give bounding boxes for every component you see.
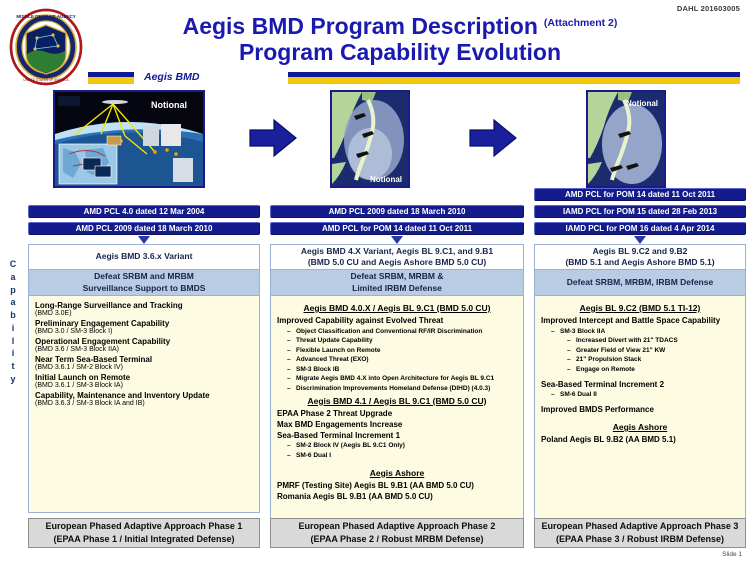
column-variant-header: Aegis BMD 3.6.x Variant [28, 244, 260, 270]
capability-title: Sea-Based Terminal Increment 2 [541, 380, 739, 389]
defeat-line: Defeat SRBM and MRBM [94, 271, 194, 283]
defeat-line: Surveillance Support to BMDS [83, 283, 206, 295]
banner-band-left [88, 72, 134, 84]
capability-letter: y [6, 373, 20, 386]
column-defeat-band: Defeat SRBM, MRBM, IRBM Defense [534, 270, 746, 296]
capability-title: EPAA Phase 2 Threat Upgrade [277, 409, 517, 418]
epaa-phase-1-footer: European Phased Adaptive Approach Phase … [28, 518, 260, 548]
variant-line: (BMD 5.1 and Aegis Ashore BMD 5.1) [565, 257, 714, 268]
epaa-phase-3-footer: European Phased Adaptive Approach Phase … [534, 518, 746, 548]
capability-letter: a [6, 296, 20, 309]
variant-line: Aegis BMD 4.X Variant, Aegis BL 9.C1, an… [301, 246, 493, 257]
capability-bullet: Object Classification and Conventional R… [287, 328, 517, 335]
capability-title: Capability, Maintenance and Inventory Up… [35, 391, 253, 400]
banner-label: Aegis BMD [144, 71, 199, 83]
mda-seal-icon: MISSILE DEFENSE AGENCY UNITED STATES OF … [8, 8, 84, 86]
variant-line: (BMD 5.0 CU and Aegis Ashore BMD 5.0 CU) [308, 257, 486, 268]
epaa-line: (EPAA Phase 3 / Robust IRBM Defense) [556, 533, 724, 546]
banner-band-right [288, 72, 740, 84]
capability-title: Preliminary Engagement Capability [35, 319, 253, 328]
capability-title: Long-Range Surveillance and Tracking [35, 301, 253, 310]
epaa-phase-2-footer: European Phased Adaptive Approach Phase … [270, 518, 524, 548]
column-body-phase3: Aegis BL 9.C2 (BMD 5.1 TI-12) Improved I… [534, 296, 746, 520]
transition-arrow-1 [248, 118, 298, 163]
column-variant-header: Aegis BL 9.C2 and 9.B2 (BMD 5.1 and Aegi… [534, 244, 746, 270]
column-defeat-band: Defeat SRBM and MRBM Surveillance Suppor… [28, 270, 260, 296]
page-title: Aegis BMD Program Description(Attachment… [100, 14, 700, 65]
pcl-bar: AMD PCL for POM 14 dated 11 Oct 2011 [270, 222, 524, 235]
capability-letter: a [6, 271, 20, 284]
pcl-bar: AMD PCL for POM 14 dated 11 Oct 2011 [534, 188, 746, 201]
title-line-1: Aegis BMD Program Description [183, 14, 538, 38]
svg-text:UNITED STATES OF AMERICA: UNITED STATES OF AMERICA [23, 78, 69, 82]
capability-title: Improved BMDS Performance [541, 405, 739, 414]
down-arrow-icon [634, 236, 646, 244]
epaa-line: (EPAA Phase 1 / Initial Integrated Defen… [53, 533, 234, 546]
epaa-line: European Phased Adaptive Approach Phase … [542, 520, 739, 533]
section-heading: Aegis BMD 4.1 / Aegis BL 9.C1 (BMD 5.0 C… [277, 396, 517, 406]
capability-subbullet: Increased Divert with 21" TDACS [567, 337, 739, 344]
section-heading: Aegis BMD 4.0.X / Aegis BL 9.C1 (BMD 5.0… [277, 303, 517, 313]
column-body-phase2: Aegis BMD 4.0.X / Aegis BL 9.C1 (BMD 5.0… [270, 296, 524, 520]
capability-letter: C [6, 258, 20, 271]
capability-title: Sea-Based Terminal Increment 1 [277, 431, 517, 440]
dahl-number: DAHL 201603005 [677, 4, 740, 13]
defeat-line: Defeat SRBM, MRBM & [350, 271, 443, 283]
transition-arrow-2 [468, 118, 518, 163]
capability-title: Improved Intercept and Battle Space Capa… [541, 316, 739, 325]
capability-letter: b [6, 309, 20, 322]
capability-detail: (BMD 3.0E) [35, 310, 253, 317]
epaa-line: European Phased Adaptive Approach Phase … [46, 520, 243, 533]
defeat-line: Limited IRBM Defense [352, 283, 442, 295]
column-body-phase1: Long-Range Surveillance and Tracking (BM… [28, 296, 260, 513]
capability-subbullet: Greater Field of View 21" KW [567, 347, 739, 354]
pcl-bar: AMD PCL 2009 dated 18 March 2010 [28, 222, 260, 235]
capability-bullet: Flexible Launch on Remote [287, 347, 517, 354]
title-line-2: Program Capability Evolution [100, 40, 700, 65]
capability-title: Poland Aegis BL 9.B2 (AA BMD 5.1) [541, 435, 739, 444]
capability-bullet: SM-3 Block IB [287, 366, 517, 373]
capability-bullet: SM-3 Block IIA [551, 328, 739, 335]
capability-detail: (BMD 3.6.1 / SM-3 Block IA) [35, 382, 253, 389]
slide-number: Slide 1 [722, 551, 742, 558]
capability-detail: (BMD 3.0 / SM-3 Block I) [35, 328, 253, 335]
notional-engagement-diagram: Notional [53, 90, 205, 188]
aegis-bmd-banner: Aegis BMD [88, 72, 740, 85]
capability-letter: l [6, 335, 20, 348]
notional-coverage-map-2: Notional [330, 90, 410, 188]
capability-title: Operational Engagement Capability [35, 337, 253, 346]
svg-text:Notional: Notional [151, 100, 187, 110]
section-heading: Aegis Ashore [541, 422, 739, 432]
capability-subbullet: 21" Propulsion Stack [567, 356, 739, 363]
variant-line: Aegis BL 9.C2 and 9.B2 [593, 246, 688, 257]
capability-title: PMRF (Testing Site) Aegis BL 9.B1 (AA BM… [277, 481, 517, 490]
capability-bullet: SM-2 Block IV (Aegis BL 9.C1 Only) [287, 442, 517, 449]
attachment-label: (Attachment 2) [544, 17, 618, 29]
svg-text:Notional: Notional [370, 175, 402, 184]
capability-title: Max BMD Engagements Increase [277, 420, 517, 429]
pcl-bar: AMD PCL 2009 dated 18 March 2010 [270, 205, 524, 218]
section-heading: Aegis Ashore [277, 468, 517, 478]
down-arrow-icon [138, 236, 150, 244]
capability-bullet: Discrimination Improvements Homeland Def… [287, 385, 517, 392]
capability-bullet: Threat Update Capability [287, 337, 517, 344]
capability-title: Romania Aegis BL 9.B1 (AA BMD 5.0 CU) [277, 492, 517, 501]
capability-subbullet: Engage on Remote [567, 366, 739, 373]
variant-line: Aegis BMD 3.6.x Variant [96, 251, 193, 262]
capability-bullet: Migrate Aegis BMD 4.X into Open Architec… [287, 375, 517, 382]
down-arrow-icon [391, 236, 403, 244]
capability-letter: i [6, 347, 20, 360]
pcl-bar: AMD PCL 4.0 dated 12 Mar 2004 [28, 205, 260, 218]
section-heading: Aegis BL 9.C2 (BMD 5.1 TI-12) [541, 303, 739, 313]
epaa-line: (EPAA Phase 2 / Robust MRBM Defense) [310, 533, 483, 546]
capability-bullet: Advanced Threat (EXO) [287, 356, 517, 363]
capability-detail: (BMD 3.6.3 / SM-3 Block IA and IB) [35, 400, 253, 407]
capability-bullet: SM-6 Dual I [287, 452, 517, 459]
capability-title: Initial Launch on Remote [35, 373, 253, 382]
defeat-line: Defeat SRBM, MRBM, IRBM Defense [567, 277, 713, 289]
capability-bullet: SM-6 Dual II [551, 391, 739, 398]
epaa-line: European Phased Adaptive Approach Phase … [299, 520, 496, 533]
capability-axis-label: C a p a b i l i t y [6, 258, 20, 386]
capability-detail: (BMD 3.6 / SM-3 Block IIA) [35, 346, 253, 353]
column-defeat-band: Defeat SRBM, MRBM & Limited IRBM Defense [270, 270, 524, 296]
notional-coverage-map-3: Notional [586, 90, 666, 188]
capability-title: Near Term Sea-Based Terminal [35, 355, 253, 364]
capability-letter: t [6, 360, 20, 373]
svg-text:Notional: Notional [626, 99, 658, 108]
capability-letter: p [6, 284, 20, 297]
capability-title: Improved Capability against Evolved Thre… [277, 316, 517, 325]
column-variant-header: Aegis BMD 4.X Variant, Aegis BL 9.C1, an… [270, 244, 524, 270]
pcl-bar: IAMD PCL for POM 15 dated 28 Feb 2013 [534, 205, 746, 218]
svg-text:MISSILE DEFENSE AGENCY: MISSILE DEFENSE AGENCY [16, 14, 75, 19]
pcl-bar: IAMD PCL for POM 16 dated 4 Apr 2014 [534, 222, 746, 235]
capability-detail: (BMD 3.6.1 / SM-2 Block IV) [35, 364, 253, 371]
capability-letter: i [6, 322, 20, 335]
